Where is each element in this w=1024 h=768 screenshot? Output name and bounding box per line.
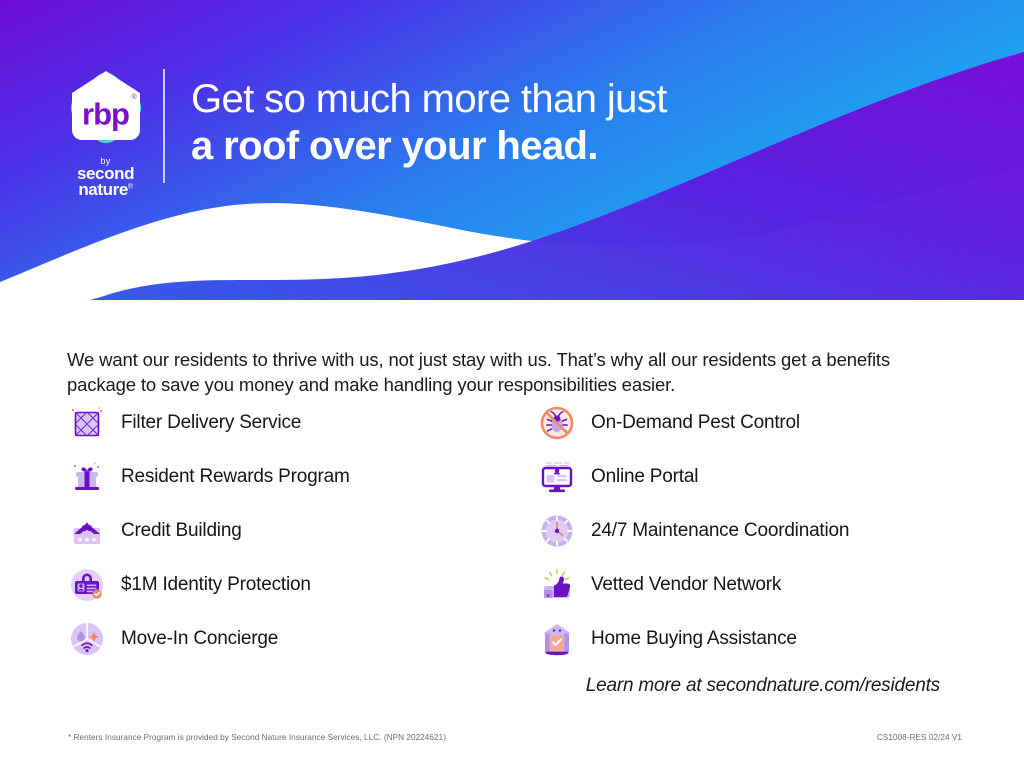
benefit-item-vetted-vendor-network: Vetted Vendor Network <box>537 558 977 612</box>
rbp-logo: rbp ® by second nature® <box>57 62 154 187</box>
benefit-item-filter-delivery-service: Filter Delivery Service <box>67 396 507 450</box>
house-checklist-icon <box>537 619 577 659</box>
header-divider <box>163 69 165 183</box>
no-pest-icon <box>537 403 577 443</box>
document-code: CS1008-RES 02/24 V1 <box>877 733 962 742</box>
benefit-label: Home Buying Assistance <box>591 628 797 650</box>
credit-stars-icon <box>67 511 107 551</box>
benefit-item-credit-building: Credit Building <box>67 504 507 558</box>
benefit-label: 24/7 Maintenance Coordination <box>591 520 849 542</box>
rbp-logo-mark: rbp ® <box>60 62 152 154</box>
id-badge-shield-icon <box>67 565 107 605</box>
second-nature-wordmark: second nature® <box>57 166 154 198</box>
benefit-label: Move-In Concierge <box>121 628 278 650</box>
benefits-column-left: Filter Delivery Service Resident Rewards… <box>67 396 507 666</box>
air-filter-icon <box>67 403 107 443</box>
hero-banner: rbp ® by second nature® Get so much more… <box>0 0 1024 300</box>
hero-headline: Get so much more than just a roof over y… <box>191 76 951 170</box>
benefit-item-on-demand-pest-control: On-Demand Pest Control <box>537 396 977 450</box>
benefit-item-move-in-concierge: Move-In Concierge <box>67 612 507 666</box>
learn-more-cta[interactable]: Learn more at secondnature.com/residents <box>0 675 1024 697</box>
disclaimer-text: * Renters Insurance Program is provided … <box>68 733 446 742</box>
thumbs-up-icon <box>537 565 577 605</box>
benefit-item-resident-rewards-program: Resident Rewards Program <box>67 450 507 504</box>
benefits-column-right: On-Demand Pest Control Online Portal <box>537 396 977 666</box>
wordmark-line2: nature <box>78 180 128 199</box>
headline-line-2: a roof over your head. <box>191 123 951 170</box>
benefit-label: Resident Rewards Program <box>121 466 350 488</box>
utilities-wifi-icon <box>67 619 107 659</box>
gift-icon <box>67 457 107 497</box>
benefit-label: $1M Identity Protection <box>121 574 311 596</box>
benefit-label: Online Portal <box>591 466 698 488</box>
intro-paragraph: We want our residents to thrive with us,… <box>67 347 937 398</box>
desktop-monitor-icon <box>537 457 577 497</box>
clock-icon <box>537 511 577 551</box>
benefit-label: Filter Delivery Service <box>121 412 301 434</box>
rbp-logo-registered-mark: ® <box>132 94 137 101</box>
headline-line-1: Get so much more than just <box>191 76 951 123</box>
benefit-label: Vetted Vendor Network <box>591 574 781 596</box>
benefit-item-online-portal: Online Portal <box>537 450 977 504</box>
benefit-label: On-Demand Pest Control <box>591 412 800 434</box>
benefit-item-home-buying-assistance: Home Buying Assistance <box>537 612 977 666</box>
benefit-item-identity-protection: $1M Identity Protection <box>67 558 507 612</box>
wordmark-registered-mark: ® <box>128 183 133 190</box>
page-footer: * Renters Insurance Program is provided … <box>0 733 1024 753</box>
rbp-logo-text: rbp <box>82 99 129 130</box>
benefit-item-maintenance-coordination: 24/7 Maintenance Coordination <box>537 504 977 558</box>
benefit-label: Credit Building <box>121 520 242 542</box>
